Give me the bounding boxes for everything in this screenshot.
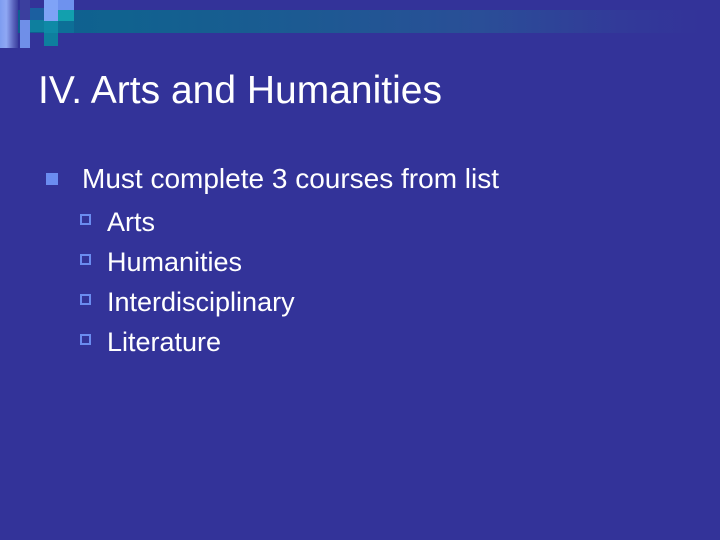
decorative-square [58,21,74,33]
decorative-square [44,21,58,33]
decorative-square [58,10,74,21]
hollow-square-bullet-icon [80,334,91,345]
bullet-level2-label: Humanities [107,247,242,277]
slide-title: IV. Arts and Humanities [38,68,678,114]
bullet-level2-label: Arts [107,207,155,237]
bullet-level2-label: Literature [107,327,221,357]
hollow-square-bullet-icon [80,254,91,265]
bullet-level2: Interdisciplinary [80,282,684,322]
hollow-square-bullet-icon [80,214,91,225]
decorative-square [44,10,58,21]
decorative-square [20,0,30,20]
hollow-square-bullet-icon [80,294,91,305]
decorative-square [20,20,30,48]
header-decoration [0,0,720,48]
header-gradient-strip [0,0,18,48]
slide-body: Must complete 3 courses from list Arts H… [44,160,684,362]
sub-bullet-list: Arts Humanities Interdisciplinary Litera… [44,202,684,362]
bullet-level2: Arts [80,202,684,242]
decorative-square [44,33,58,46]
bullet-level1: Must complete 3 courses from list [44,160,684,198]
bullet-level1-label: Must complete 3 courses from list [82,163,499,194]
decorative-square [30,8,44,20]
bullet-level2: Literature [80,322,684,362]
filled-square-bullet-icon [46,173,58,185]
bullet-level2-label: Interdisciplinary [107,287,295,317]
decorative-square [58,0,74,10]
header-accent-bar [0,10,720,33]
bullet-level2: Humanities [80,242,684,282]
decorative-square [30,20,44,32]
decorative-square [44,0,58,10]
slide-canvas: IV. Arts and Humanities Must complete 3 … [0,0,720,540]
